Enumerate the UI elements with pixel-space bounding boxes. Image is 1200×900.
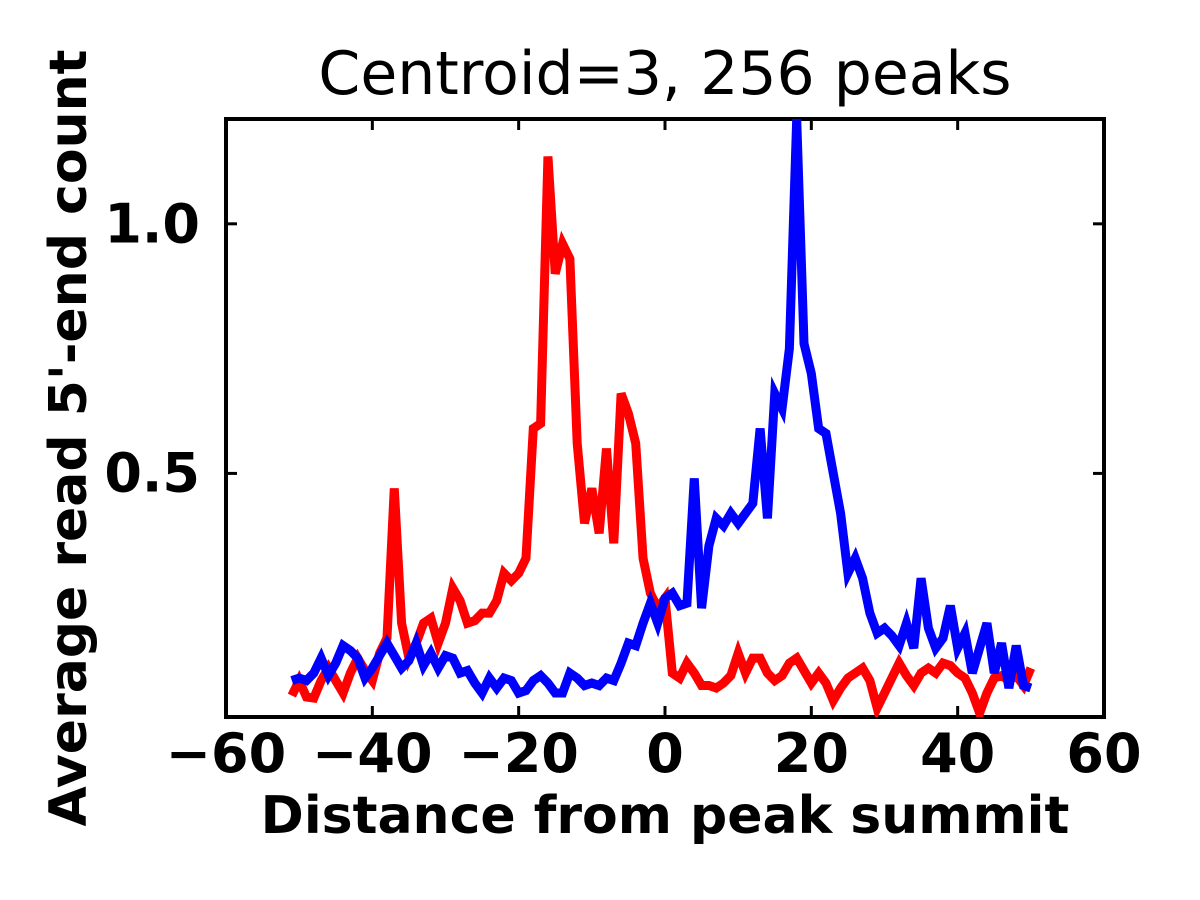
y-axis-label: Average read 5'-end count bbox=[39, 38, 99, 838]
data-series bbox=[292, 119, 1031, 713]
x-tick-label: −20 bbox=[458, 722, 578, 785]
x-tick-label: 40 bbox=[920, 722, 995, 785]
x-axis-label: Distance from peak summit bbox=[226, 786, 1104, 846]
x-tick-label: 60 bbox=[1066, 722, 1141, 785]
y-tick-label: 0.5 bbox=[104, 442, 200, 505]
x-tick-label: −60 bbox=[166, 722, 286, 785]
x-tick-label: −40 bbox=[312, 722, 432, 785]
chart-figure: Centroid=3, 256 peaks −60−40−200204060 0… bbox=[0, 0, 1200, 900]
y-tick-label: 1.0 bbox=[104, 192, 200, 255]
x-tick-label: 0 bbox=[646, 722, 684, 785]
x-tick-label: 20 bbox=[774, 722, 849, 785]
